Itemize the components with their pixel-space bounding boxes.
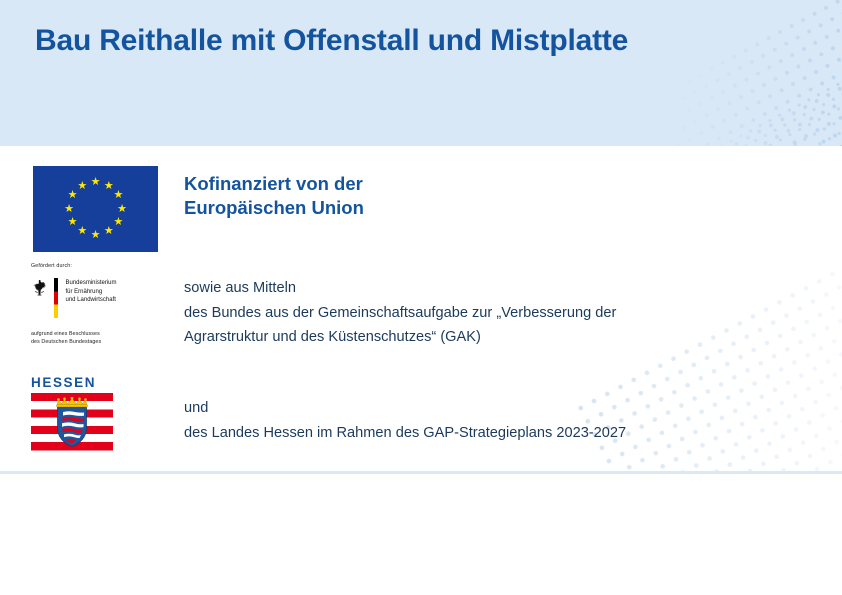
funding-text-2-line-2: des Landes Hessen im Rahmen des GAP-Stra… xyxy=(184,421,804,446)
eu-star-1: ★ xyxy=(90,177,101,188)
german-flag-bar-icon xyxy=(54,278,58,318)
hessen-flag-icon xyxy=(31,393,113,451)
eu-cofinancing-label: Kofinanziert von der Europäischen Union xyxy=(184,172,604,221)
eu-star-12: ★ xyxy=(77,181,88,192)
eu-star-5: ★ xyxy=(113,217,124,228)
hessen-state-logo: HESSEN xyxy=(31,375,113,451)
bmel-name-line-3: und Landwirtschaft xyxy=(66,296,117,305)
footer-area: Dieser Code führt Sie direkt zum GAP-Str… xyxy=(0,474,842,595)
funding-text-2-line-1: und xyxy=(184,396,804,421)
eu-star-11: ★ xyxy=(67,190,78,201)
eu-star-3: ★ xyxy=(113,190,124,201)
eu-label-line-1: Kofinanziert von der xyxy=(184,172,604,196)
bmel-funded-by-label: Gefördert durch: xyxy=(31,263,171,269)
funding-text-1-line-3: Agrarstruktur und des Küstenschutzes“ (G… xyxy=(184,325,804,350)
eu-star-6: ★ xyxy=(103,226,114,237)
eu-star-8: ★ xyxy=(77,226,88,237)
hessen-coat-of-arms-icon xyxy=(53,397,91,447)
eu-label-line-2: Europäischen Union xyxy=(184,196,604,220)
funding-text-block-2: und des Landes Hessen im Rahmen des GAP-… xyxy=(184,396,804,445)
bmel-logo-block: Gefördert durch: Bundesministerium für E… xyxy=(31,263,171,346)
bmel-name-line-2: für Ernährung xyxy=(66,288,117,297)
page-title: Bau Reithalle mit Offenstall und Mistpla… xyxy=(35,24,825,59)
funding-text-1-line-1: sowie aus Mitteln xyxy=(184,276,804,301)
bmel-name-line-1: Bundesministerium xyxy=(66,279,117,288)
bmel-decision-line-2: des Deutschen Bundestages xyxy=(31,339,171,347)
eu-star-7: ★ xyxy=(90,230,101,241)
poster-canvas: Bau Reithalle mit Offenstall und Mistpla… xyxy=(0,0,842,595)
european-union-flag-icon: ★★★★★★★★★★★★ xyxy=(33,166,158,252)
bmel-bundestag-decision: aufgrund eines Beschlusses des Deutschen… xyxy=(31,331,171,346)
hessen-wordmark: HESSEN xyxy=(31,375,113,390)
eu-star-9: ★ xyxy=(67,217,78,228)
funding-text-block-1: sowie aus Mitteln des Bundes aus der Gem… xyxy=(184,276,804,350)
eu-star-4: ★ xyxy=(117,204,128,215)
funding-text-1-line-2: des Bundes aus der Gemeinschaftsaufgabe … xyxy=(184,301,804,326)
header-banner: Bau Reithalle mit Offenstall und Mistpla… xyxy=(0,0,842,146)
bmel-ministry-name: Bundesministerium für Ernährung und Land… xyxy=(66,278,117,305)
bmel-logo-row: Bundesministerium für Ernährung und Land… xyxy=(31,278,171,318)
eu-star-10: ★ xyxy=(64,204,75,215)
bmel-decision-line-1: aufgrund eines Beschlusses xyxy=(31,331,171,339)
federal-eagle-icon xyxy=(31,279,48,298)
